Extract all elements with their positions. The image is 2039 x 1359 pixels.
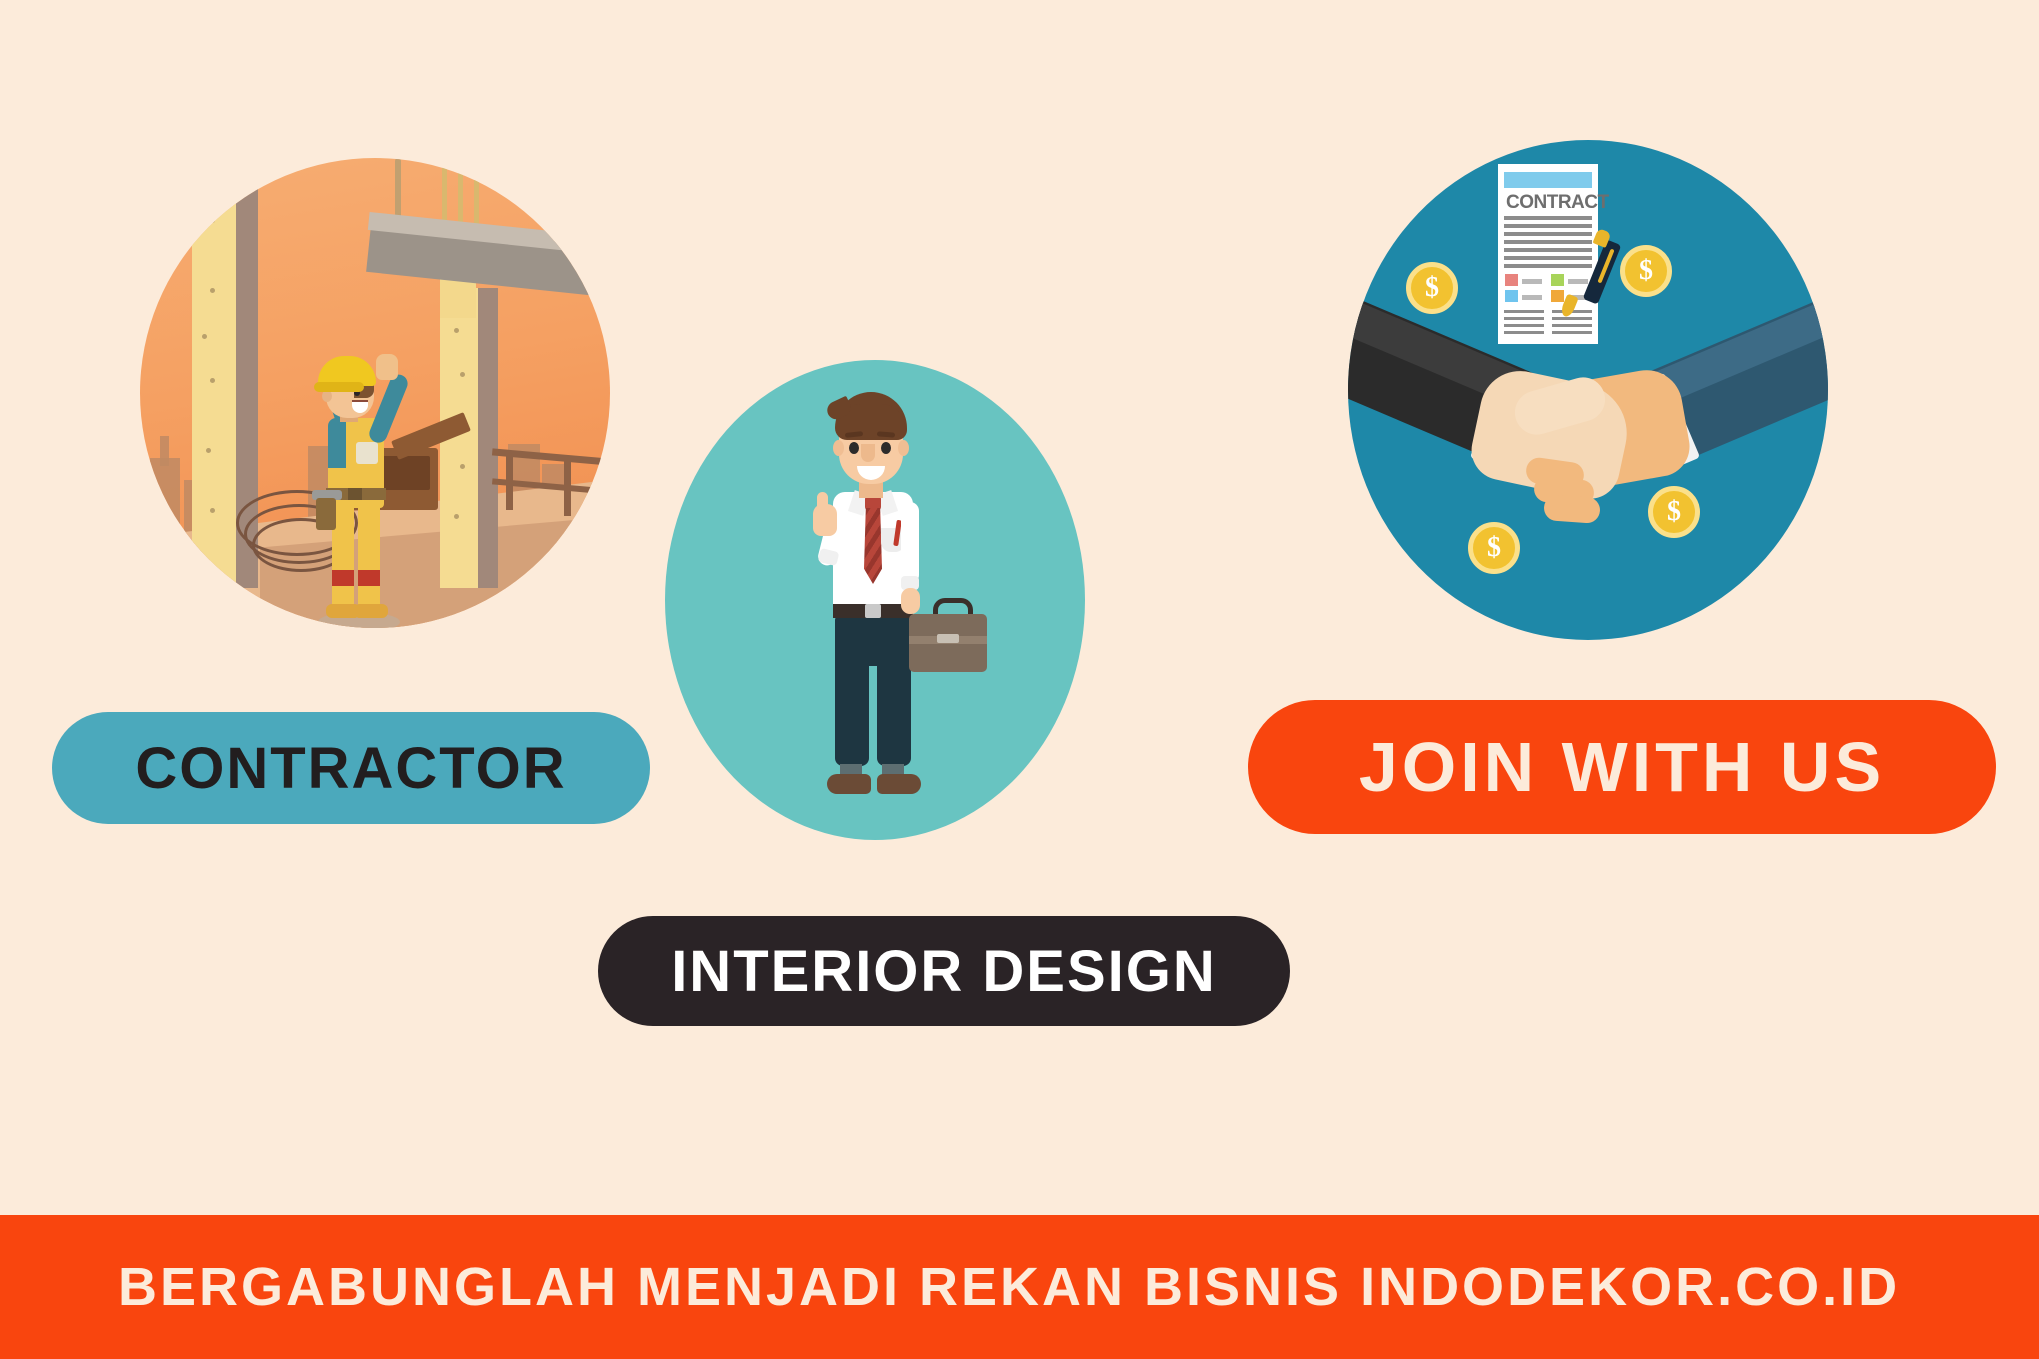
worker-shirt bbox=[328, 418, 346, 468]
hard-hat-brim bbox=[314, 382, 364, 392]
striped-necktie bbox=[864, 508, 882, 584]
worker-leg-band bbox=[358, 570, 380, 586]
businessman-eye bbox=[849, 442, 859, 454]
businessman-thumbs-up-illustration bbox=[665, 360, 1085, 840]
handshake-contract-illustration: CONTRACT bbox=[1348, 140, 1828, 640]
tie-knot bbox=[865, 496, 881, 510]
interior-design-button[interactable]: INTERIOR DESIGN bbox=[598, 916, 1290, 1026]
worker-leg-band bbox=[332, 570, 354, 586]
businessman-shoe bbox=[877, 774, 921, 794]
join-with-us-button[interactable]: JOIN WITH US bbox=[1248, 700, 1996, 834]
businessman-arm bbox=[901, 502, 919, 584]
dollar-coin-icon: $ bbox=[1620, 245, 1672, 297]
contract-checkbox bbox=[1505, 290, 1518, 302]
dollar-coin-icon: $ bbox=[1648, 486, 1700, 538]
belt-buckle bbox=[865, 604, 881, 618]
construction-worker-illustration bbox=[140, 158, 610, 628]
contract-header-bar bbox=[1504, 172, 1592, 188]
worker-pocket bbox=[356, 442, 378, 464]
worker-belt-buckle bbox=[348, 488, 362, 500]
businessman-figure bbox=[785, 392, 975, 812]
worker-figure bbox=[290, 340, 420, 628]
businessman-hips bbox=[835, 616, 911, 666]
businessman-eye bbox=[881, 442, 891, 454]
banner-canvas: CONTRACT bbox=[0, 0, 2039, 1359]
businessman-hand bbox=[901, 588, 920, 614]
handshake-finger bbox=[1543, 494, 1601, 524]
beam-support bbox=[440, 278, 476, 318]
footer-text: BERGABUNGLAH MENJADI REKAN BISNIS INDODE… bbox=[118, 1256, 1900, 1318]
businessman-ear bbox=[898, 440, 909, 456]
briefcase-lock bbox=[937, 634, 959, 643]
skyline-building bbox=[160, 436, 169, 466]
contract-checkbox bbox=[1551, 274, 1564, 286]
worker-boot bbox=[356, 604, 388, 618]
thumb bbox=[817, 492, 828, 514]
contractor-button[interactable]: CONTRACTOR bbox=[52, 712, 650, 824]
railing-post bbox=[506, 454, 513, 510]
worker-boot bbox=[326, 604, 358, 618]
pillar-shadow bbox=[478, 288, 498, 588]
businessman-ear bbox=[833, 440, 844, 456]
contract-checkbox bbox=[1551, 290, 1564, 302]
contract-checkbox bbox=[1505, 274, 1518, 286]
worker-tool-pouch bbox=[316, 498, 336, 530]
dollar-coin-icon: $ bbox=[1406, 262, 1458, 314]
railing-post bbox=[564, 460, 571, 516]
contract-heading: CONTRACT bbox=[1506, 192, 1609, 214]
footer-banner: BERGABUNGLAH MENJADI REKAN BISNIS INDODE… bbox=[0, 1215, 2039, 1359]
businessman-shoe bbox=[827, 774, 871, 794]
worker-hand bbox=[376, 354, 398, 380]
businessman-nose bbox=[861, 444, 875, 462]
concrete-pillar bbox=[192, 158, 236, 588]
worker-leg bbox=[358, 500, 380, 610]
dollar-coin-icon: $ bbox=[1468, 522, 1520, 574]
